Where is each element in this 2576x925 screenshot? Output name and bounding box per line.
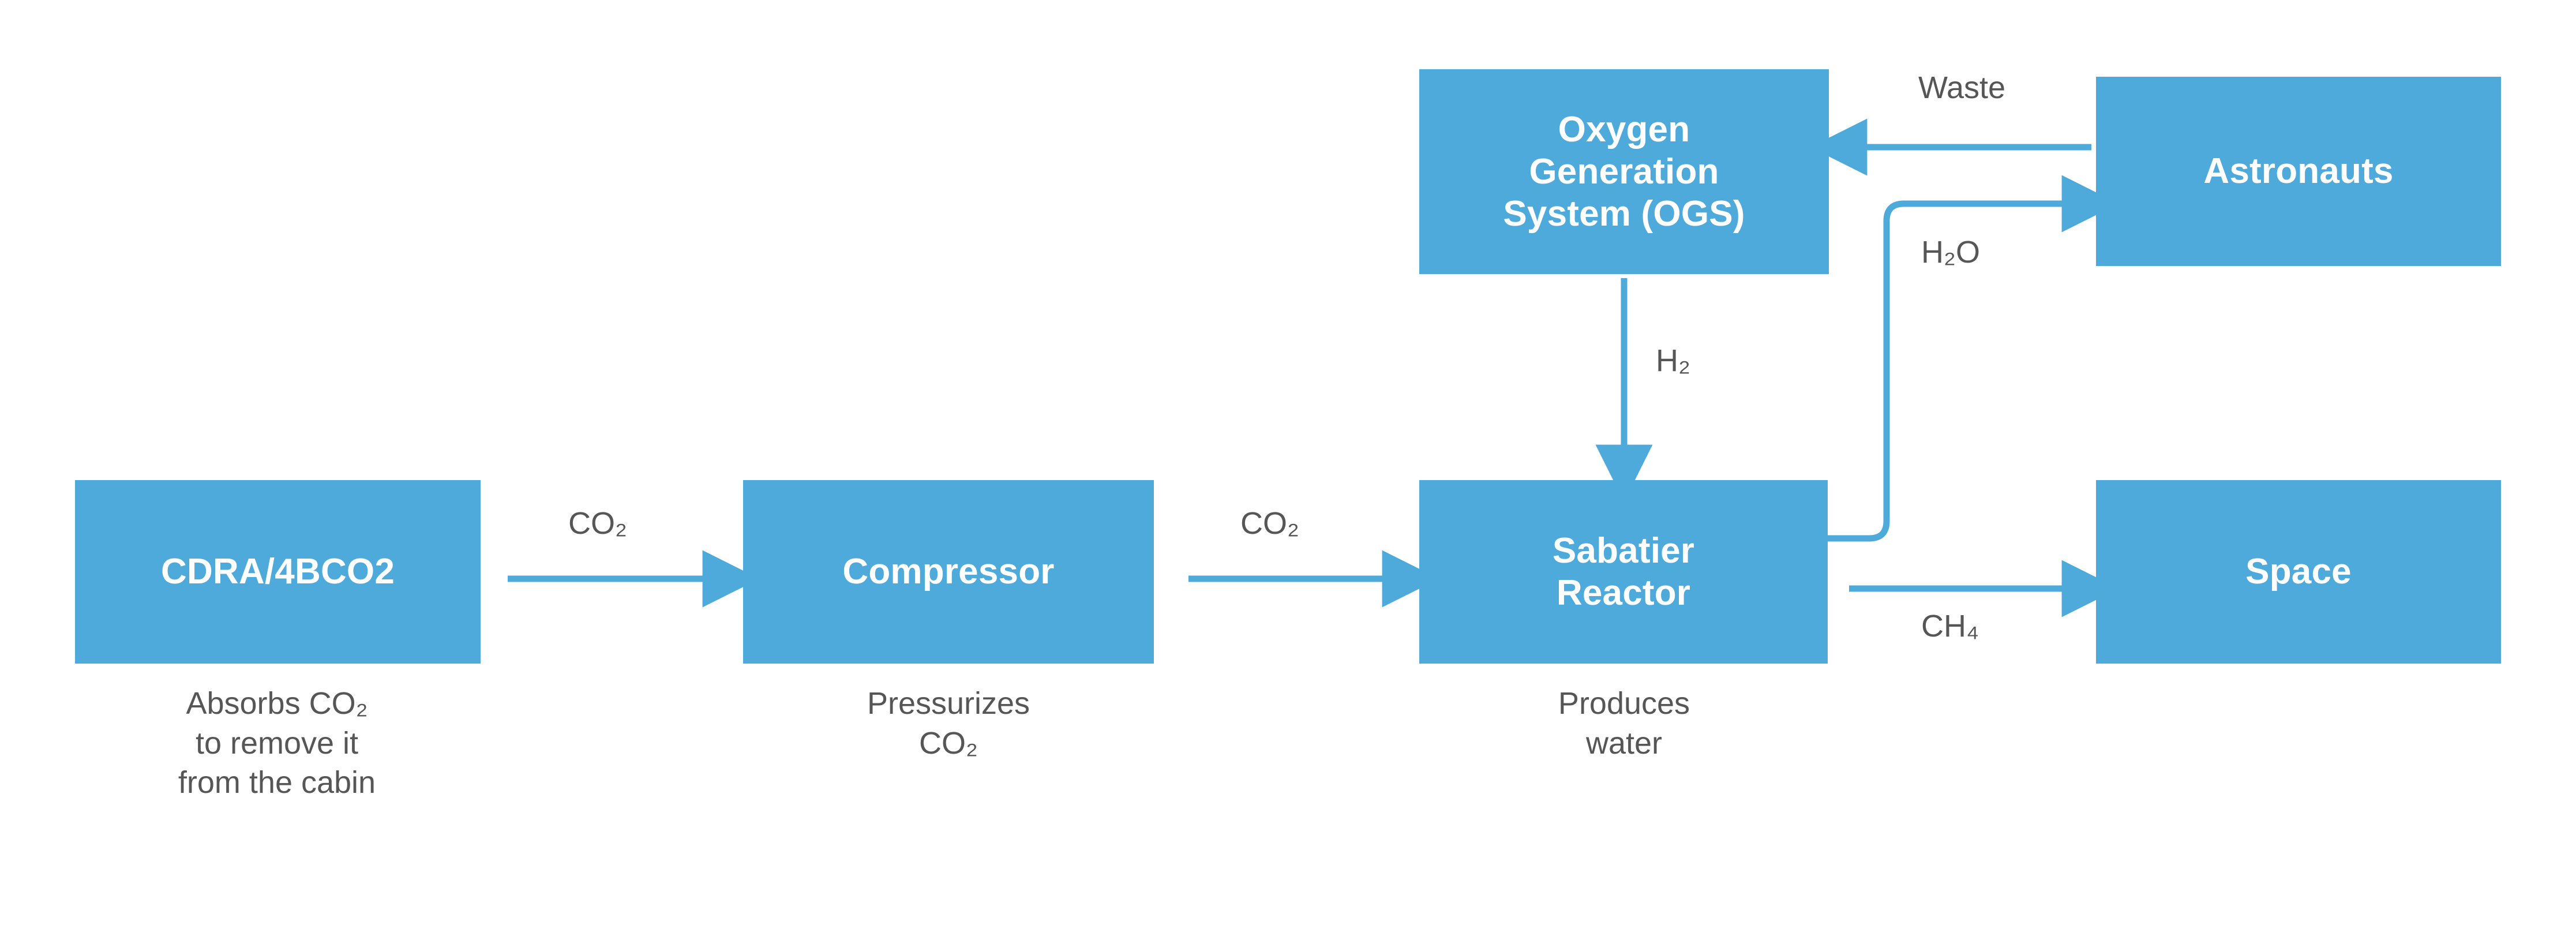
edge-label-text: CO₂ (1240, 506, 1299, 541)
node-astronauts[interactable]: Astronauts (2096, 77, 2501, 266)
caption-cdra: Absorbs CO₂ to remove it from the cabin (58, 684, 496, 803)
node-compressor-label: Compressor (842, 550, 1054, 593)
edge-label-text: H₂O (1921, 235, 1980, 269)
node-space[interactable]: Space (2096, 480, 2501, 664)
node-sabatier-label: Sabatier Reactor (1553, 530, 1694, 614)
node-cdra-label: CDRA/4BCO2 (161, 550, 395, 593)
edge-label-text: Waste (1918, 70, 2005, 105)
node-space-label: Space (2245, 550, 2352, 593)
edge-label-astronauts-to-ogs: Waste (1918, 72, 2005, 103)
edge-label-text: CO₂ (568, 506, 627, 541)
diagram-canvas: CDRA/4BCO2 Absorbs CO₂ to remove it from… (0, 0, 2576, 925)
node-cdra[interactable]: CDRA/4BCO2 (75, 480, 481, 664)
edge-label-cdra-to-compressor: CO₂ (568, 508, 627, 539)
edge-label-text: CH₄ (1921, 609, 1979, 643)
edge-label-text: H₂ (1656, 343, 1690, 378)
node-ogs-label: Oxygen Generation System (OGS) (1503, 108, 1745, 235)
edge-label-ogs-to-sabatier: H₂ (1656, 345, 1690, 376)
node-ogs[interactable]: Oxygen Generation System (OGS) (1419, 69, 1829, 274)
caption-sabatier: Produces water (1413, 684, 1835, 763)
edge-label-sabatier-to-space: CH₄ (1921, 611, 1979, 642)
caption-compressor: Pressurizes CO₂ (733, 684, 1164, 763)
edge-label-compressor-to-sabatier: CO₂ (1240, 508, 1299, 539)
node-compressor[interactable]: Compressor (743, 480, 1154, 664)
node-sabatier[interactable]: Sabatier Reactor (1419, 480, 1828, 664)
node-astronauts-label: Astronauts (2203, 150, 2393, 192)
edge-label-sabatier-to-astronauts: H₂O (1921, 237, 1980, 268)
